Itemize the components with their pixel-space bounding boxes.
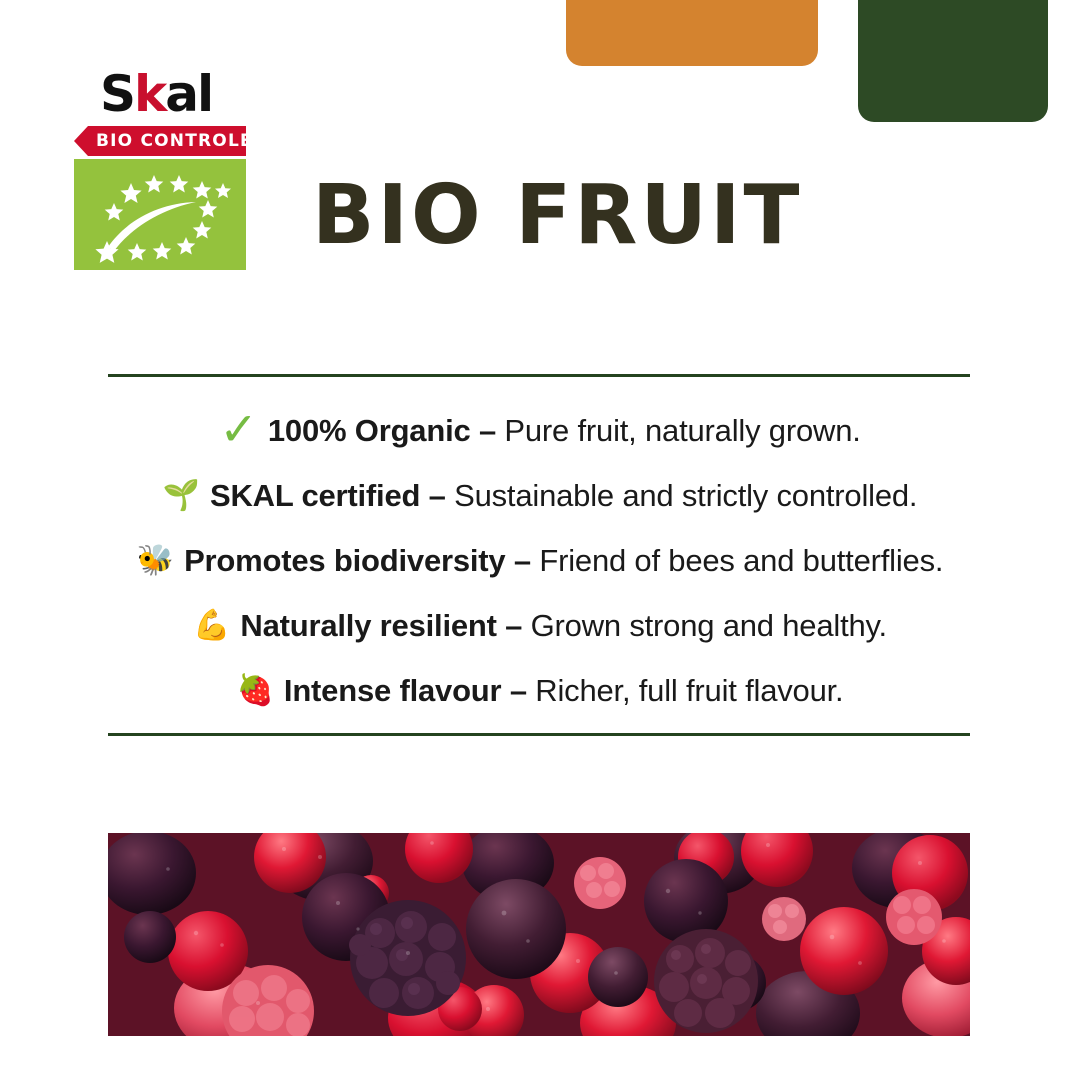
benefit-text: Promotes biodiversity – Friend of bees a… bbox=[184, 543, 943, 579]
benefit-item-resilient: 💪 Naturally resilient – Grown strong and… bbox=[0, 593, 1080, 658]
benefit-lead: Promotes biodiversity – bbox=[184, 543, 531, 578]
benefit-lead: 100% Organic – bbox=[268, 413, 496, 448]
benefit-item-biodiversity: 🐝 Promotes biodiversity – Friend of bees… bbox=[0, 528, 1080, 593]
divider-top bbox=[108, 374, 970, 377]
benefit-item-organic: ✓ 100% Organic – Pure fruit, naturally g… bbox=[0, 398, 1080, 463]
benefit-lead: Naturally resilient – bbox=[240, 608, 522, 643]
skal-wordmark: Skal bbox=[100, 66, 246, 122]
benefit-rest: Pure fruit, naturally grown. bbox=[496, 413, 861, 448]
bee-icon: 🐝 bbox=[137, 546, 174, 576]
certification-logo-lockup: Skal BIO CONTROLE bbox=[74, 66, 246, 270]
benefit-rest: Sustainable and strictly controlled. bbox=[446, 478, 918, 513]
benefit-lead: SKAL certified – bbox=[210, 478, 446, 513]
check-mark-icon: ✓ bbox=[219, 406, 258, 452]
seedling-icon: 🌱 bbox=[163, 481, 200, 511]
benefit-rest: Grown strong and healthy. bbox=[522, 608, 887, 643]
benefit-rest: Friend of bees and butterflies. bbox=[531, 543, 943, 578]
bio-controle-banner: BIO CONTROLE bbox=[74, 126, 246, 156]
benefit-text: SKAL certified – Sustainable and strictl… bbox=[210, 478, 917, 514]
benefit-text: 100% Organic – Pure fruit, naturally gro… bbox=[268, 413, 861, 449]
skal-wordmark-al: al bbox=[165, 65, 212, 123]
skal-wordmark-s: S bbox=[100, 65, 134, 123]
benefits-list: ✓ 100% Organic – Pure fruit, naturally g… bbox=[0, 398, 1080, 723]
benefit-lead: Intense flavour – bbox=[284, 673, 527, 708]
skal-wordmark-k-accent: k bbox=[134, 65, 165, 123]
benefit-text: Intense flavour – Richer, full fruit fla… bbox=[284, 673, 844, 709]
benefit-rest: Richer, full fruit flavour. bbox=[527, 673, 844, 708]
benefit-text: Naturally resilient – Grown strong and h… bbox=[240, 608, 887, 644]
benefit-item-skal-certified: 🌱 SKAL certified – Sustainable and stric… bbox=[0, 463, 1080, 528]
mixed-frozen-berries-photo bbox=[108, 833, 970, 1036]
strawberry-icon: 🍓 bbox=[237, 676, 274, 706]
benefit-item-flavour: 🍓 Intense flavour – Richer, full fruit f… bbox=[0, 658, 1080, 723]
decorative-block-green bbox=[858, 0, 1048, 122]
flexed-biceps-icon: 💪 bbox=[193, 611, 230, 641]
eu-organic-leaf-icon bbox=[74, 159, 246, 270]
decorative-block-orange bbox=[566, 0, 818, 66]
page-title: BIO FRUIT bbox=[312, 168, 802, 264]
divider-bottom bbox=[108, 733, 970, 736]
bio-controle-label: BIO CONTROLE bbox=[96, 126, 253, 156]
